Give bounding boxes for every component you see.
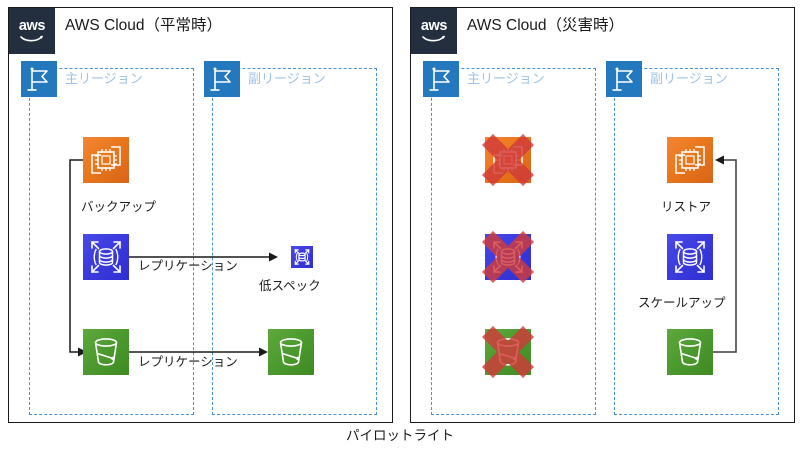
ec2-icon bbox=[83, 137, 129, 183]
s3-bucket-icon-primary-normal[interactable] bbox=[83, 329, 129, 375]
aws-logo-text: aws bbox=[19, 19, 45, 34]
region-label-secondary-disaster: 副リージョン bbox=[650, 71, 728, 87]
s3-bucket-icon-secondary-disaster[interactable] bbox=[667, 329, 713, 375]
s3-bucket-icon bbox=[667, 329, 713, 375]
connector-label-s3-replication-normal: レプリケーション bbox=[138, 355, 238, 370]
connector-label-db-replication-normal: レプリケーション bbox=[138, 259, 238, 274]
label-backup-normal: バックアップ bbox=[81, 200, 156, 215]
flag-icon bbox=[423, 61, 459, 97]
database-icon bbox=[667, 234, 713, 280]
ec2-icon-primary-normal[interactable] bbox=[83, 137, 129, 183]
database-icon-secondary-disaster[interactable] bbox=[667, 234, 713, 280]
region-label-primary-disaster: 主リージョン bbox=[467, 71, 545, 87]
diagram-caption: パイロットライト bbox=[0, 427, 800, 445]
cloud-title-normal: AWS Cloud（平常時） bbox=[65, 17, 222, 36]
aws-logo: aws bbox=[411, 8, 457, 54]
diagram-canvas: aws AWS Cloud（平常時） 主リージョン bbox=[0, 0, 800, 450]
label-restore-disaster: リストア bbox=[661, 200, 711, 215]
database-icon bbox=[83, 234, 129, 280]
database-icon bbox=[291, 246, 313, 268]
region-label-primary-normal: 主リージョン bbox=[65, 71, 143, 87]
database-icon-secondary-normal[interactable] bbox=[291, 246, 313, 268]
aws-smile-icon bbox=[20, 35, 44, 43]
flag-icon bbox=[204, 61, 240, 97]
s3-bucket-icon bbox=[83, 329, 129, 375]
s3-bucket-icon-primary-disaster[interactable] bbox=[485, 329, 531, 375]
ec2-icon-secondary-disaster[interactable] bbox=[667, 137, 713, 183]
region-flag-primary-normal bbox=[21, 61, 57, 97]
cloud-title-disaster: AWS Cloud（災害時） bbox=[467, 17, 624, 36]
flag-icon bbox=[21, 61, 57, 97]
label-scale-up-disaster: スケールアップ bbox=[638, 296, 726, 311]
region-flag-secondary-disaster bbox=[606, 61, 642, 97]
aws-logo-text: aws bbox=[421, 19, 447, 34]
aws-cloud-panel-normal: aws AWS Cloud（平常時） 主リージョン bbox=[8, 7, 393, 423]
s3-bucket-icon bbox=[485, 329, 531, 375]
database-icon-primary-disaster[interactable] bbox=[485, 234, 531, 280]
region-flag-primary-disaster bbox=[423, 61, 459, 97]
aws-logo: aws bbox=[9, 8, 55, 54]
s3-bucket-icon-secondary-normal[interactable] bbox=[268, 329, 314, 375]
ec2-icon-primary-disaster[interactable] bbox=[485, 137, 531, 183]
ec2-icon bbox=[485, 137, 531, 183]
flag-icon bbox=[606, 61, 642, 97]
region-label-secondary-normal: 副リージョン bbox=[248, 71, 326, 87]
region-flag-secondary-normal bbox=[204, 61, 240, 97]
database-icon bbox=[485, 234, 531, 280]
aws-smile-icon bbox=[422, 35, 446, 43]
label-low-spec-normal: 低スペック bbox=[259, 279, 321, 294]
aws-cloud-panel-disaster: aws AWS Cloud（災害時） 主リージョン bbox=[410, 7, 795, 423]
database-icon-primary-normal[interactable] bbox=[83, 234, 129, 280]
ec2-icon bbox=[667, 137, 713, 183]
s3-bucket-icon bbox=[268, 329, 314, 375]
